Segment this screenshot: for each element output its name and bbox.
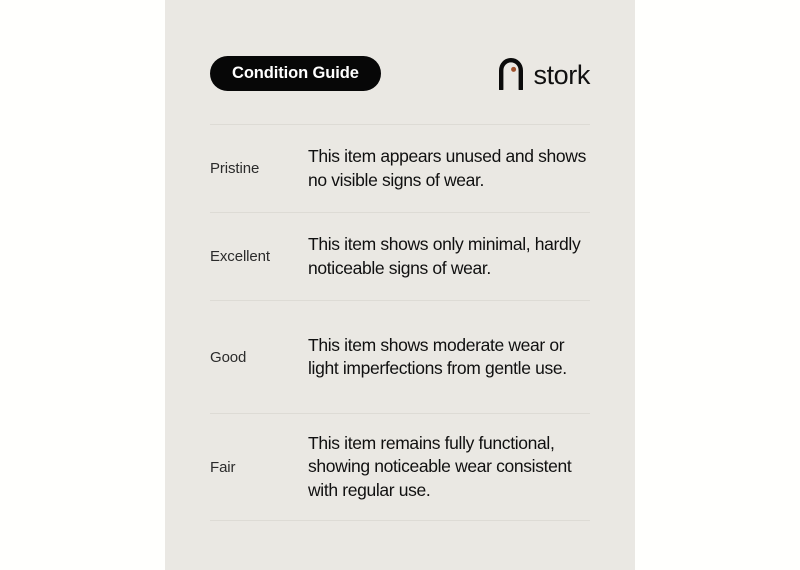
- brand-wordmark: stork: [533, 62, 590, 89]
- brand-lockup: stork: [498, 56, 590, 92]
- card-content: Condition Guide stork Pristine This it: [210, 0, 590, 570]
- condition-table: Pristine This item appears unused and sh…: [210, 124, 590, 521]
- condition-description: This item shows only minimal, hardly not…: [308, 233, 590, 280]
- condition-description: This item appears unused and shows no vi…: [308, 145, 590, 192]
- card-header: Condition Guide stork: [210, 56, 590, 92]
- table-divider-bottom: [210, 520, 590, 521]
- table-row: Good This item shows moderate wear or li…: [210, 301, 590, 413]
- condition-label: Pristine: [210, 160, 308, 177]
- condition-description: This item remains fully functional, show…: [308, 432, 590, 502]
- table-row: Excellent This item shows only minimal, …: [210, 213, 590, 300]
- condition-description: This item shows moderate wear or light i…: [308, 334, 590, 381]
- table-row: Fair This item remains fully functional,…: [210, 414, 590, 520]
- condition-label: Good: [210, 349, 308, 366]
- condition-guide-badge: Condition Guide: [210, 56, 381, 91]
- table-row: Pristine This item appears unused and sh…: [210, 125, 590, 212]
- condition-label: Fair: [210, 459, 308, 476]
- page-root: Condition Guide stork Pristine This it: [0, 0, 800, 570]
- stork-arch-logo-icon: [498, 58, 524, 90]
- condition-guide-card: Condition Guide stork Pristine This it: [165, 0, 635, 570]
- condition-label: Excellent: [210, 248, 308, 265]
